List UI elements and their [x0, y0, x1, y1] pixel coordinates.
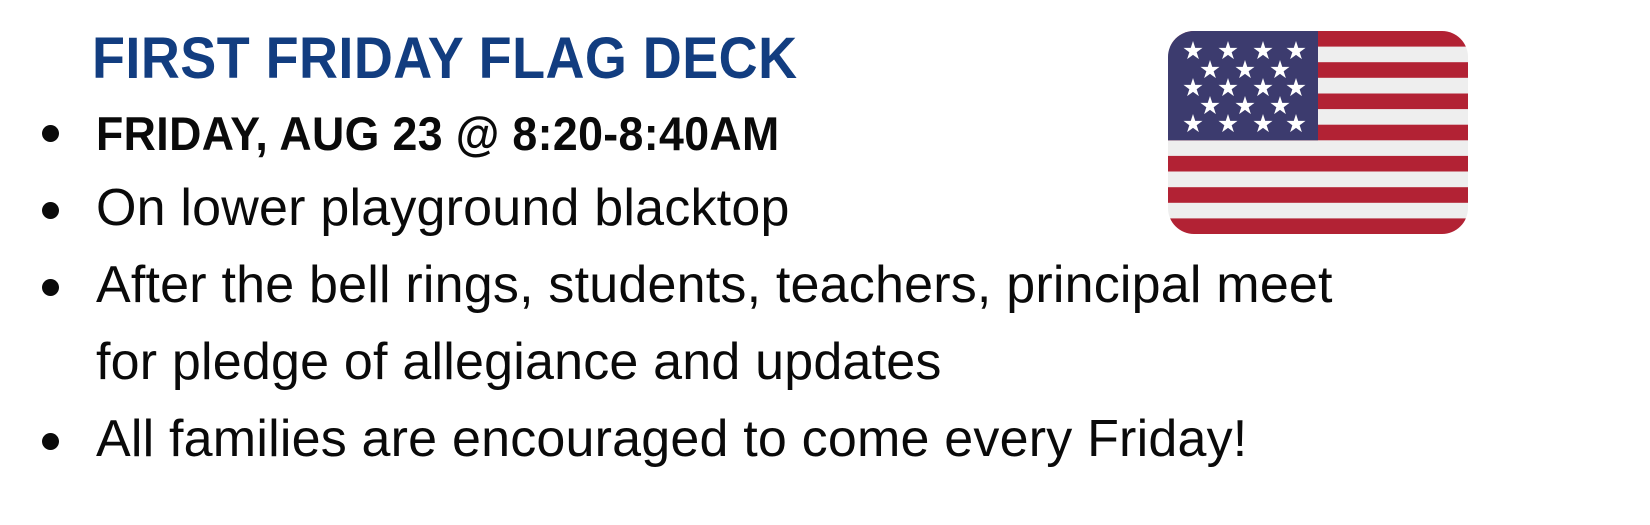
bullet-dot-icon	[42, 433, 59, 450]
list-item-invitation: All families are encouraged to come ever…	[34, 401, 1554, 478]
list-item-label: All families are encouraged to come ever…	[96, 401, 1554, 478]
list-item-label: After the bell rings, students, teachers…	[96, 247, 1554, 401]
list-item-procedure: After the bell rings, students, teachers…	[34, 247, 1554, 401]
list-item-label-line-2: for pledge of allegiance and updates	[96, 324, 1554, 401]
bullet-dot-icon	[42, 279, 59, 296]
bullet-dot-icon	[42, 202, 59, 219]
list-item-label-line-1: After the bell rings, students, teachers…	[96, 247, 1554, 324]
page-title: FIRST FRIDAY FLAG DECK	[92, 28, 798, 90]
flyer-canvas: FIRST FRIDAY FLAG DECK FRIDAY, AUG 23 @ …	[0, 0, 1650, 525]
bullet-dot-icon	[42, 125, 59, 142]
united-states-flag-icon	[1168, 31, 1468, 234]
flag-body	[1168, 31, 1468, 234]
